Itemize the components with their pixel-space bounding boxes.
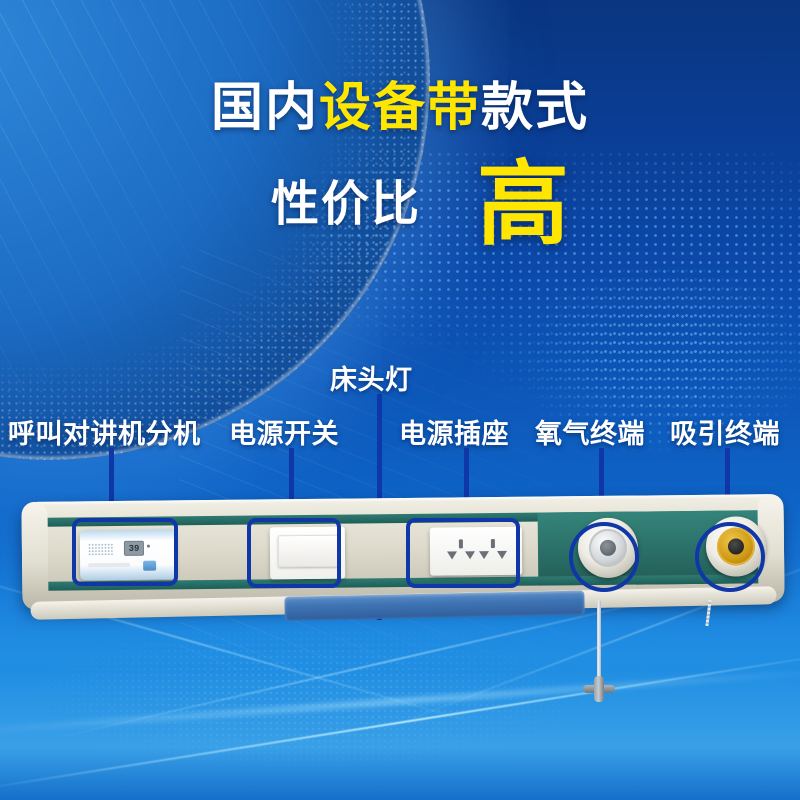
ghost-world-map bbox=[40, 600, 800, 790]
hose-connector-bar-vertical bbox=[594, 676, 604, 702]
callout-label-bed-lamp: 床头灯 bbox=[330, 358, 413, 397]
highlight-circle-suction bbox=[695, 522, 765, 592]
callout-label-power-socket: 电源插座 bbox=[399, 412, 509, 451]
headline-line1-accent: 设备带 bbox=[319, 79, 481, 137]
poster-canvas: 国内设备带款式 性价比 高 呼叫对讲机分机 电源开关 床头灯 电源插座 氧气终端… bbox=[0, 0, 800, 800]
headline-emphasis-char: 高 bbox=[477, 164, 569, 247]
light-beam-2 bbox=[0, 669, 800, 736]
light-beam-1 bbox=[0, 650, 800, 793]
highlight-box-power-switch bbox=[247, 518, 341, 588]
highlight-box-intercom bbox=[72, 518, 178, 586]
highlight-circle-oxygen bbox=[569, 522, 639, 592]
panel-blue-rail bbox=[284, 591, 584, 621]
callout-label-oxygen: 氧气终端 bbox=[535, 412, 645, 451]
oxygen-hose bbox=[597, 600, 601, 682]
headline-line-1: 国内设备带款式 bbox=[0, 82, 800, 134]
headline-block: 国内设备带款式 性价比 高 bbox=[0, 82, 800, 247]
callout-label-power-switch: 电源开关 bbox=[229, 412, 339, 451]
headline-line1-part1: 国内 bbox=[211, 79, 319, 137]
panel-end-cap-left bbox=[21, 502, 48, 610]
headline-subtitle: 性价比 bbox=[271, 181, 421, 229]
hose-connector-fitting bbox=[583, 676, 615, 702]
headline-line1-part2: 款式 bbox=[481, 79, 589, 137]
headline-line-2: 性价比 高 bbox=[0, 164, 800, 247]
highlight-box-power-socket bbox=[406, 518, 520, 588]
callout-label-intercom: 呼叫对讲机分机 bbox=[8, 412, 201, 451]
callout-label-suction: 吸引终端 bbox=[670, 412, 780, 451]
